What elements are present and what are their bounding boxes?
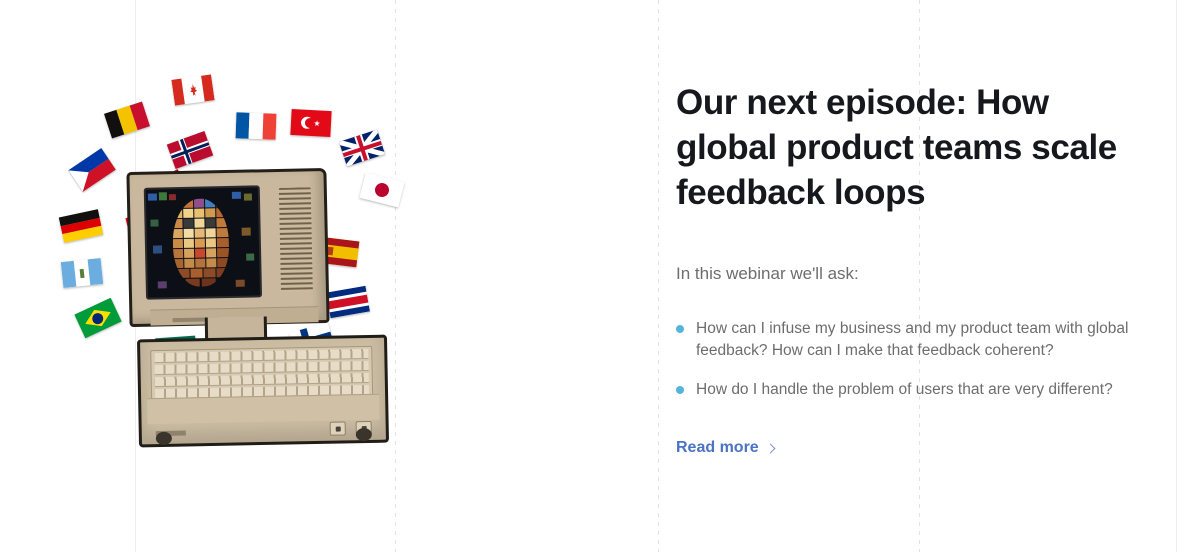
flag-brazil: [74, 298, 121, 338]
flag-turkey: [290, 109, 331, 137]
list-item: How can I infuse my business and my prod…: [676, 318, 1146, 362]
webinar-illustration: [60, 55, 410, 445]
flag-guatemala: [61, 258, 103, 288]
flag-norway: [167, 131, 213, 169]
flag-mosaic-face: [146, 187, 260, 297]
base-button-left: [330, 421, 346, 435]
flag-costa-rica: [326, 286, 370, 319]
monitor-vents: [279, 187, 313, 292]
flag-france: [236, 112, 277, 139]
flag-canada: [171, 74, 214, 105]
flag-united-kingdom: [339, 129, 385, 166]
flag-belgium: [104, 101, 150, 138]
list-item-text: How can I infuse my business and my prod…: [696, 320, 1129, 359]
read-more-link[interactable]: Read more: [676, 439, 774, 457]
lede-text: In this webinar we'll ask:: [676, 262, 1146, 286]
crt-screen: [144, 185, 262, 299]
flag-japan: [359, 173, 404, 208]
read-more-label: Read more: [676, 439, 759, 457]
base-front-panel: [147, 394, 379, 424]
webinar-promo-page: Our next episode: How global product tea…: [0, 0, 1200, 552]
webinar-text-column: Our next episode: How global product tea…: [676, 80, 1146, 457]
base-foot-left: [156, 432, 172, 445]
guide-line-3: [658, 0, 659, 552]
chevron-right-icon: [765, 443, 775, 453]
base-foot-right: [356, 428, 372, 441]
list-item: How do I handle the problem of users tha…: [676, 379, 1146, 401]
question-list: How can I infuse my business and my prod…: [676, 318, 1146, 401]
flag-philippines: [68, 148, 116, 192]
bullet-dot-icon: [676, 386, 684, 394]
computer-base-unit: [137, 335, 389, 448]
guide-line-5: [1176, 0, 1177, 552]
mosaic-face: [172, 198, 230, 287]
flag-germany: [59, 209, 104, 243]
page-title: Our next episode: How global product tea…: [676, 80, 1146, 215]
crt-monitor: [126, 168, 329, 327]
list-item-text: How do I handle the problem of users tha…: [696, 381, 1113, 398]
bullet-dot-icon: [676, 325, 684, 333]
